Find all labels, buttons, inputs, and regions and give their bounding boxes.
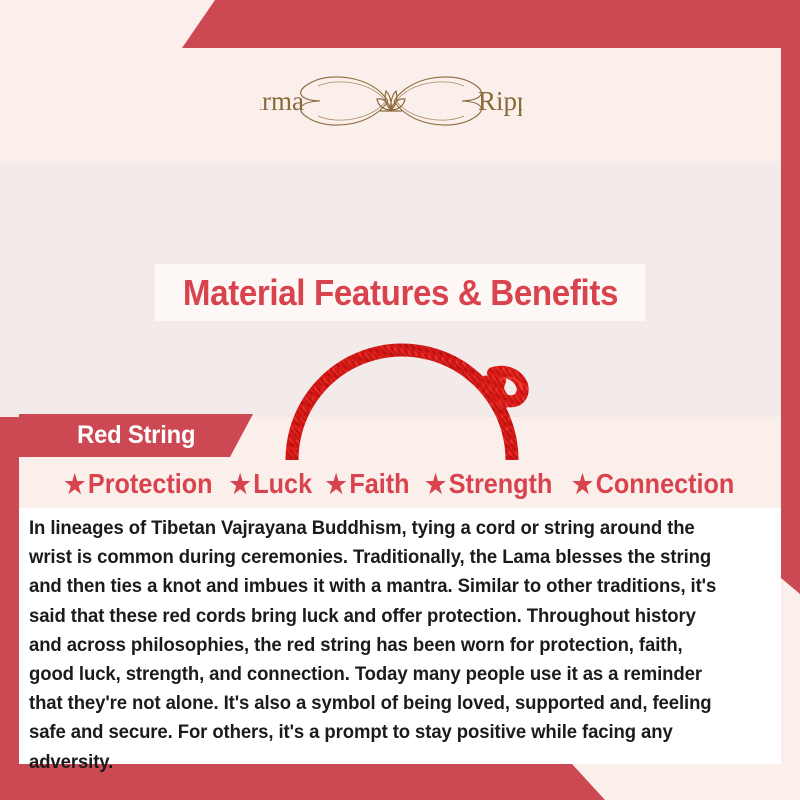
- description-paragraph: In lineages of Tibetan Vajrayana Buddhis…: [29, 514, 726, 777]
- karma-ripple-logomark: Karma Ripple: [260, 70, 522, 132]
- section-ribbon-label: Red String: [77, 421, 195, 450]
- benefit-protection: ★ Protection: [65, 468, 213, 500]
- benefit-faith: ★ Faith: [325, 468, 409, 500]
- right-accent-strip: [781, 46, 800, 594]
- top-accent-band: [0, 0, 800, 48]
- star-icon: ★: [572, 469, 593, 500]
- benefit-label: Luck: [253, 468, 312, 500]
- benefit-connection: ★ Connection: [572, 468, 734, 500]
- brand-word-left: Karma: [260, 86, 304, 116]
- description-block: In lineages of Tibetan Vajrayana Buddhis…: [19, 508, 781, 764]
- hero-area: Karma Ripple: [0, 48, 781, 161]
- page-title-plate: Material Features & Benefits: [155, 264, 645, 321]
- benefit-label: Protection: [88, 468, 213, 500]
- brand-word-right: Ripple: [478, 86, 522, 116]
- brand-logo: Karma Ripple: [0, 70, 781, 132]
- title-and-product-zone: Material Features & Benefits: [0, 161, 781, 417]
- infographic-page: Karma Ripple: [0, 0, 800, 800]
- star-icon: ★: [230, 469, 251, 500]
- benefit-label: Strength: [449, 468, 553, 500]
- benefits-row: ★ Protection ★ Luck ★ Faith ★ Strength ★…: [19, 460, 781, 508]
- benefit-strength: ★ Strength: [425, 468, 552, 500]
- page-title: Material Features & Benefits: [182, 272, 617, 314]
- benefit-luck: ★ Luck: [230, 468, 313, 500]
- benefit-label: Connection: [596, 468, 735, 500]
- star-icon: ★: [65, 469, 86, 500]
- star-icon: ★: [325, 469, 346, 500]
- benefit-label: Faith: [349, 468, 409, 500]
- star-icon: ★: [425, 469, 446, 500]
- section-ribbon-red-string: Red String: [19, 414, 253, 457]
